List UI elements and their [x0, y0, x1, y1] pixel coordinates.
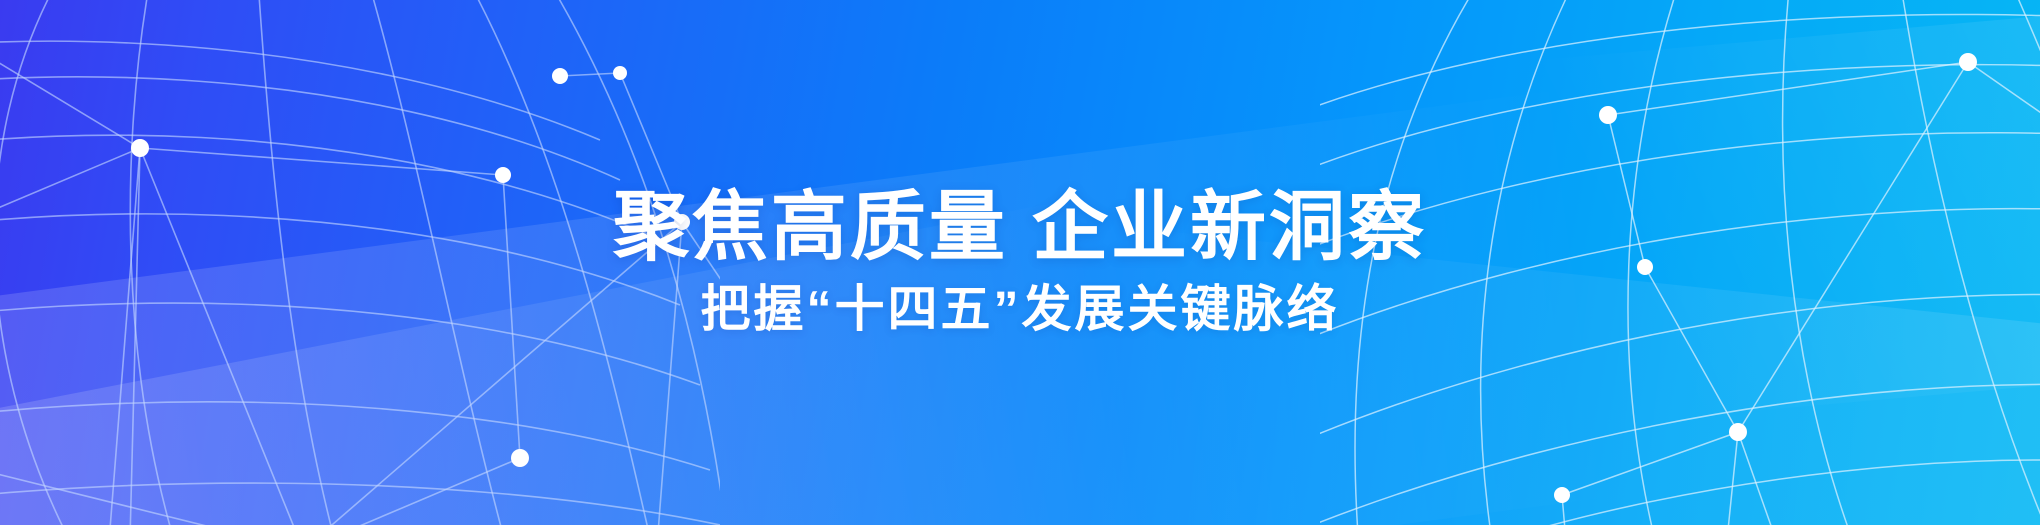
promo-banner: 聚焦高质量 企业新洞察 把握“十四五”发展关键脉络 [0, 0, 2040, 525]
banner-title: 聚焦高质量 企业新洞察 [613, 188, 1427, 268]
banner-subtitle: 把握“十四五”发展关键脉络 [701, 282, 1340, 337]
banner-content: 聚焦高质量 企业新洞察 把握“十四五”发展关键脉络 [0, 0, 2040, 525]
